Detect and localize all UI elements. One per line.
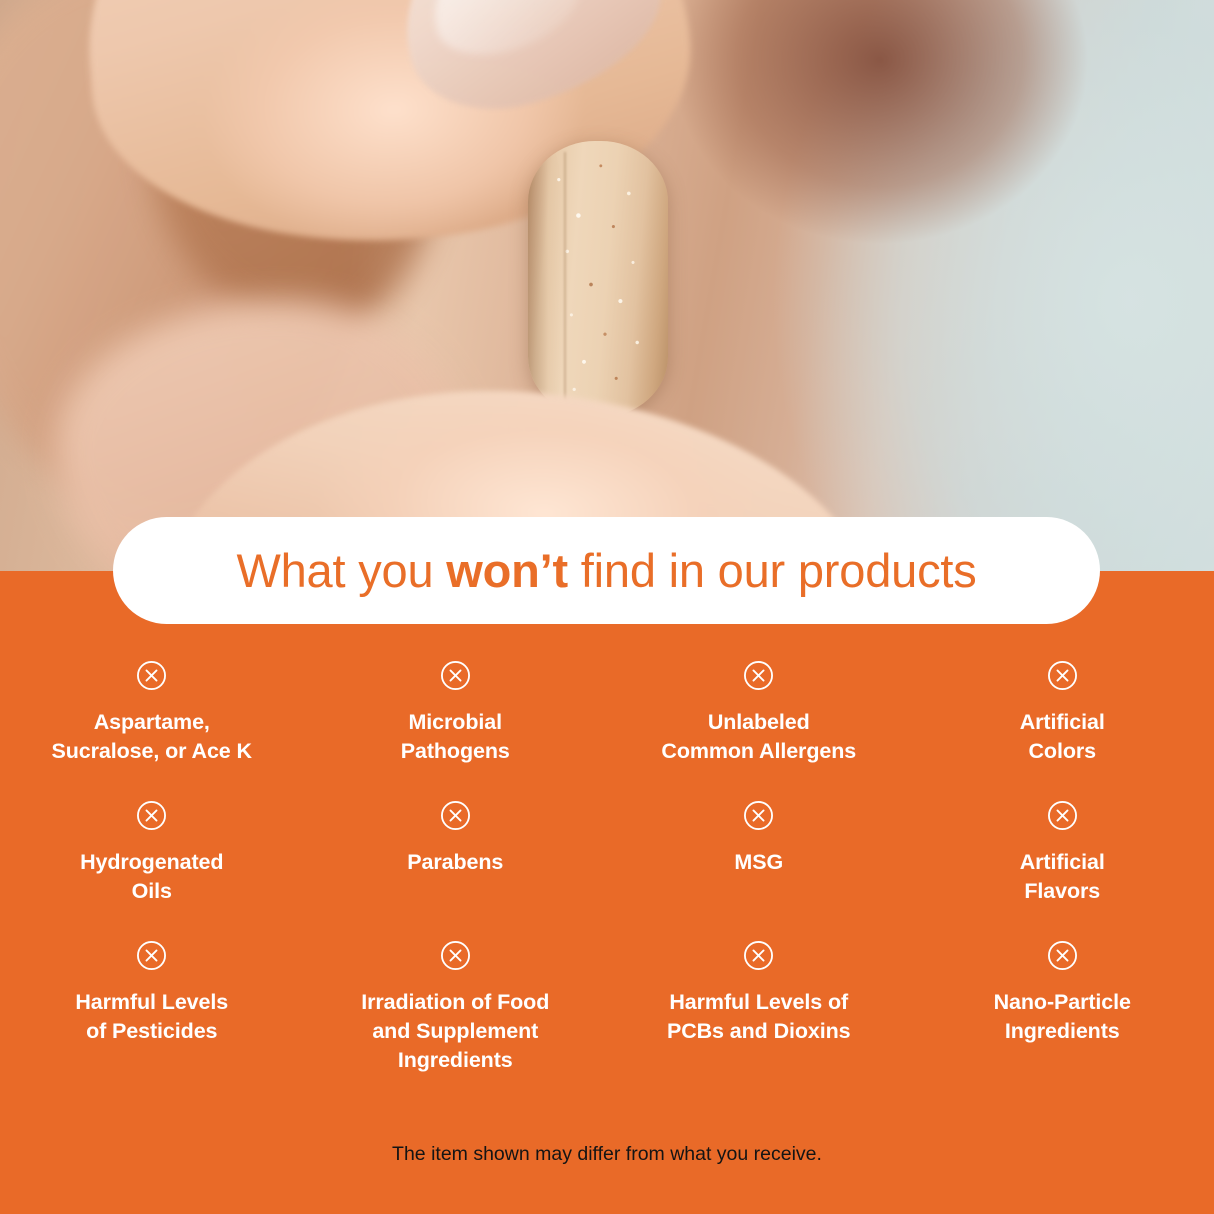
tablet-seam-line bbox=[564, 152, 566, 406]
exclusions-grid: Aspartame, Sucralose, or Ace K Microbial… bbox=[0, 660, 1214, 1100]
exclusion-label: Harmful Levels of Pesticides bbox=[75, 988, 228, 1046]
exclusion-label: Artificial Flavors bbox=[1020, 848, 1105, 906]
exclusion-label: Microbial Pathogens bbox=[401, 708, 510, 766]
exclusion-item-unlabeled-allergens: Unlabeled Common Allergens bbox=[607, 660, 911, 800]
grid-row: Harmful Levels of Pesticides Irradiation… bbox=[0, 940, 1214, 1100]
circle-x-icon bbox=[136, 660, 167, 691]
exclusion-item-nano-particle: Nano-Particle Ingredients bbox=[911, 940, 1214, 1100]
exclusion-label: Hydrogenated Oils bbox=[80, 848, 223, 906]
grid-row: Hydrogenated Oils Parabens MSG bbox=[0, 800, 1214, 940]
exclusion-label: Artificial Colors bbox=[1020, 708, 1105, 766]
circle-x-icon bbox=[743, 660, 774, 691]
exclusion-item-artificial-colors: Artificial Colors bbox=[911, 660, 1214, 800]
exclusion-label: Irradiation of Food and Supplement Ingre… bbox=[361, 988, 549, 1076]
exclusion-item-irradiation: Irradiation of Food and Supplement Ingre… bbox=[304, 940, 608, 1100]
exclusion-item-aspartame: Aspartame, Sucralose, or Ace K bbox=[0, 660, 304, 800]
supplement-tablet bbox=[528, 141, 668, 417]
exclusion-label: Unlabeled Common Allergens bbox=[661, 708, 856, 766]
exclusion-item-msg: MSG bbox=[607, 800, 911, 940]
disclaimer-text: The item shown may differ from what you … bbox=[0, 1143, 1214, 1166]
exclusion-item-microbial-pathogens: Microbial Pathogens bbox=[304, 660, 608, 800]
circle-x-icon bbox=[1047, 940, 1078, 971]
circle-x-icon bbox=[440, 660, 471, 691]
product-photo bbox=[0, 0, 1214, 572]
circle-x-icon bbox=[440, 800, 471, 831]
exclusion-item-parabens: Parabens bbox=[304, 800, 608, 940]
title-emphasis: won’t bbox=[446, 544, 568, 597]
tablet-edge-shadow bbox=[528, 141, 562, 417]
exclusion-item-artificial-flavors: Artificial Flavors bbox=[911, 800, 1214, 940]
exclusion-label: Parabens bbox=[407, 848, 503, 877]
exclusion-label: Harmful Levels of PCBs and Dioxins bbox=[667, 988, 851, 1046]
circle-x-icon bbox=[1047, 800, 1078, 831]
circle-x-icon bbox=[136, 800, 167, 831]
title-banner: What you won’t find in our products bbox=[113, 517, 1100, 624]
product-infographic: What you won’t find in our products Aspa… bbox=[0, 0, 1214, 1214]
title-part-2: find in our products bbox=[568, 544, 977, 597]
exclusion-item-hydrogenated-oils: Hydrogenated Oils bbox=[0, 800, 304, 940]
circle-x-icon bbox=[440, 940, 471, 971]
circle-x-icon bbox=[1047, 660, 1078, 691]
circle-x-icon bbox=[743, 800, 774, 831]
circle-x-icon bbox=[136, 940, 167, 971]
exclusion-item-pcbs-dioxins: Harmful Levels of PCBs and Dioxins bbox=[607, 940, 911, 1100]
title-part-1: What you bbox=[236, 544, 446, 597]
circle-x-icon bbox=[743, 940, 774, 971]
page-title: What you won’t find in our products bbox=[236, 547, 976, 594]
grid-row: Aspartame, Sucralose, or Ace K Microbial… bbox=[0, 660, 1214, 800]
exclusion-label: Nano-Particle Ingredients bbox=[994, 988, 1131, 1046]
exclusion-label: MSG bbox=[734, 848, 783, 877]
exclusion-label: Aspartame, Sucralose, or Ace K bbox=[52, 708, 252, 766]
exclusion-item-pesticides: Harmful Levels of Pesticides bbox=[0, 940, 304, 1100]
